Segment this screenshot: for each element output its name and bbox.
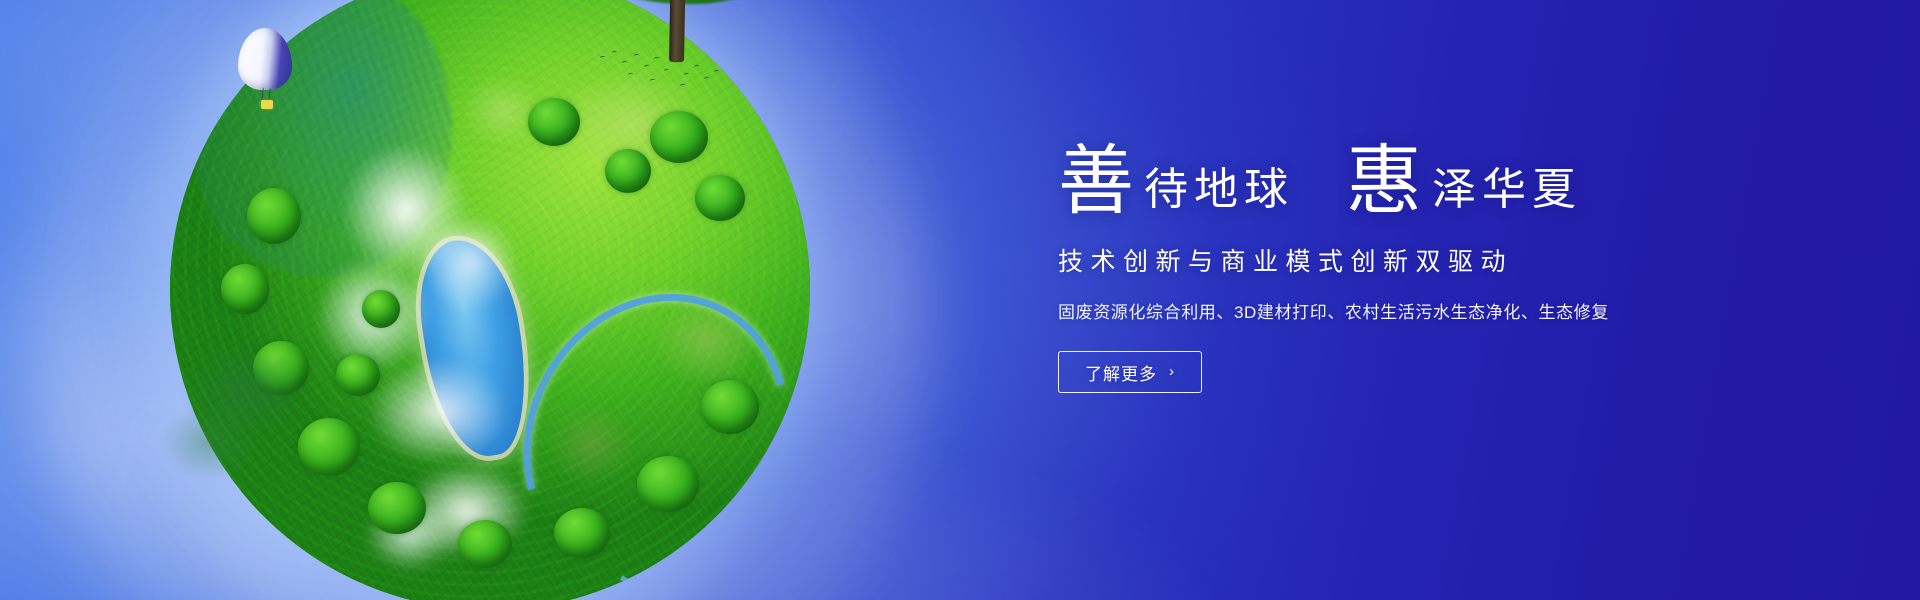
globe-tree [368, 482, 426, 534]
learn-more-label: 了解更多 [1085, 360, 1157, 385]
globe-tree [554, 508, 610, 558]
bird-icon [622, 61, 627, 65]
globe-tree [298, 418, 360, 476]
banner-detail-text: 固废资源化综合利用、3D建材打印、农村生活污水生态净化、生态修复 [1058, 298, 1778, 323]
bird-icon [628, 73, 633, 77]
bird-icon [600, 56, 605, 60]
bird-icon [650, 79, 655, 83]
globe-tree [253, 341, 309, 395]
page-title: 善 待地球 惠 泽华夏 [1058, 140, 1778, 216]
headline-part1-big: 善 [1058, 144, 1134, 220]
balloon-basket [261, 100, 273, 109]
globe-tree [695, 175, 745, 221]
globe-tree [247, 188, 301, 244]
bird-icon [714, 70, 719, 74]
headline-part1-small: 待地球 [1144, 168, 1294, 212]
hot-air-balloon [238, 28, 292, 112]
bird-icon [694, 65, 699, 69]
bird-icon [684, 73, 689, 77]
banner-copy: 善 待地球 惠 泽华夏 技术创新与商业模式创新双驱动 固废资源化综合利用、3D建… [1058, 140, 1778, 393]
banner-subtitle: 技术创新与商业模式创新双驱动 [1058, 242, 1778, 278]
learn-more-button[interactable]: 了解更多 › [1058, 351, 1202, 393]
globe-tree [650, 111, 708, 163]
chevron-right-icon: › [1169, 364, 1175, 379]
bird-icon [634, 54, 639, 58]
bird-icon [704, 77, 709, 81]
globe-tree [362, 290, 400, 328]
bird-icon [664, 69, 669, 73]
headline-part2-big: 惠 [1346, 144, 1422, 220]
bird-flock [596, 48, 726, 90]
hero-banner: 善 待地球 惠 泽华夏 技术创新与商业模式创新双驱动 固废资源化综合利用、3D建… [0, 0, 1920, 600]
bird-icon [612, 51, 617, 55]
bird-icon [654, 57, 659, 61]
headline-part2-small: 泽华夏 [1432, 168, 1582, 212]
bird-icon [644, 65, 649, 69]
globe-tree [701, 380, 759, 434]
bird-icon [680, 84, 685, 88]
balloon-envelope [238, 28, 292, 90]
bird-icon [674, 61, 679, 65]
